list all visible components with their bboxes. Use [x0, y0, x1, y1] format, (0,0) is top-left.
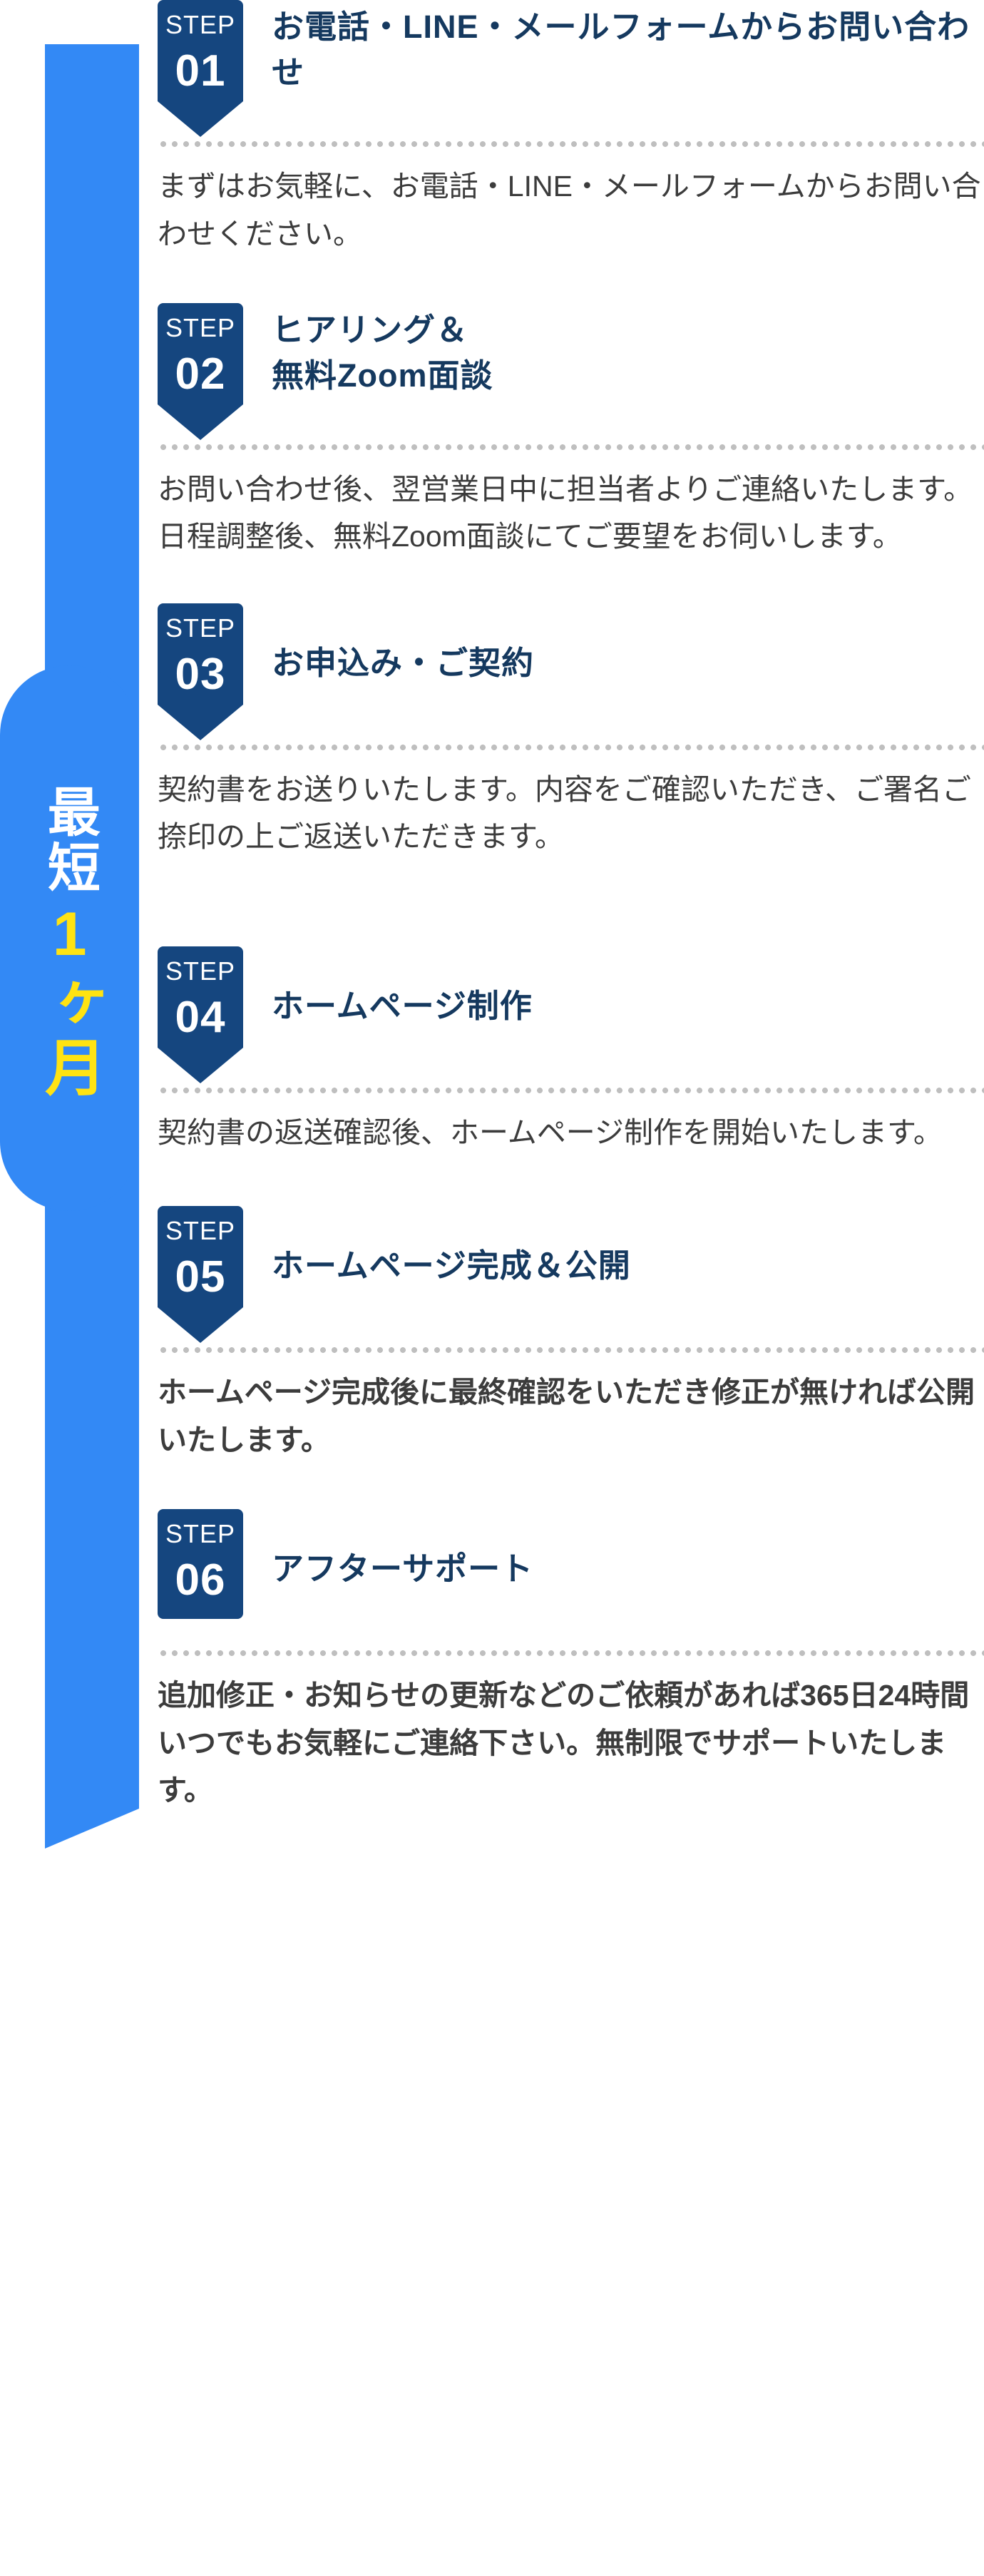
step-description-04: 契約書の返送確認後、ホームページ制作を開始いたします。: [158, 1109, 984, 1156]
step-divider: [158, 1088, 984, 1093]
step-badge-word: STEP: [158, 1521, 243, 1547]
step-description-05: ホームページ完成後に最終確認をいただき修正が無ければ公開いたします。: [158, 1369, 984, 1463]
step-badge-number: 06: [158, 1557, 243, 1603]
step-description-02: お問い合わせ後、翌営業日中に担当者よりご連絡いたします。日程調整後、無料Zoom…: [158, 466, 984, 561]
step-badge-04: STEP 04: [158, 946, 243, 1048]
step-badge-number: 03: [158, 651, 243, 697]
step-badge-number: 04: [158, 994, 243, 1041]
step-title-02: ヒアリング＆ 無料Zoom面談: [272, 303, 493, 399]
step-item-06: STEP 06 アフターサポート 追加修正・お知らせの更新などのご依頼があれば3…: [139, 1463, 984, 1814]
step-divider: [158, 141, 984, 147]
step-badge-05: STEP 05: [158, 1206, 243, 1307]
timeline-arrow-icon: [45, 1809, 139, 1849]
steps-list: STEP 01 お電話・LINE・メールフォームからお問い合わせ まずはお気軽に…: [139, 0, 984, 2576]
step-title-06: アフターサポート: [272, 1509, 533, 1592]
step-badge-02: STEP 02: [158, 303, 243, 404]
step-badge-word: STEP: [158, 12, 243, 38]
step-badge-03: STEP 03: [158, 603, 243, 705]
step-item-05: STEP 05 ホームページ完成＆公開 ホームページ完成後に最終確認をいただき修…: [139, 1156, 984, 1463]
step-divider: [158, 444, 984, 450]
step-divider: [158, 1650, 984, 1656]
step-badge-word: STEP: [158, 315, 243, 341]
step-header: STEP 06 アフターサポート: [139, 1509, 984, 1619]
step-divider: [158, 1347, 984, 1353]
step-badge-word: STEP: [158, 1218, 243, 1244]
duration-badge-label: 最短: [42, 784, 98, 896]
step-item-03: STEP 03 お申込み・ご契約 契約書をお送りいたします。内容をご確認いただき…: [139, 561, 984, 861]
step-header: STEP 01 お電話・LINE・メールフォームからお問い合わせ: [139, 0, 984, 101]
step-title-04: ホームページ制作: [272, 946, 533, 1029]
step-title-03: お申込み・ご契約: [272, 603, 534, 686]
step-title-05: ホームページ完成＆公開: [272, 1206, 631, 1289]
step-header: STEP 05 ホームページ完成＆公開: [139, 1206, 984, 1307]
step-title-01: お電話・LINE・メールフォームからお問い合わせ: [272, 0, 984, 96]
step-badge-number: 01: [158, 48, 243, 94]
step-header: STEP 03 お申込み・ご契約: [139, 603, 984, 705]
step-item-01: STEP 01 お電話・LINE・メールフォームからお問い合わせ まずはお気軽に…: [139, 0, 984, 257]
step-description-03: 契約書をお送りいたします。内容をご確認いただき、ご署名ご捺印の上ご返送いただきま…: [158, 766, 984, 861]
step-header: STEP 02 ヒアリング＆ 無料Zoom面談: [139, 303, 984, 404]
step-description-01: まずはお気軽に、お電話・LINE・メールフォームからお問い合わせください。: [158, 163, 984, 257]
step-badge-number: 05: [158, 1254, 243, 1300]
step-item-02: STEP 02 ヒアリング＆ 無料Zoom面談 お問い合わせ後、翌営業日中に担当…: [139, 257, 984, 561]
step-item-04: STEP 04 ホームページ制作 契約書の返送確認後、ホームページ制作を開始いた…: [139, 861, 984, 1157]
step-badge-number: 02: [158, 351, 243, 397]
step-divider: [158, 745, 984, 750]
duration-badge: 最短 1ヶ月: [0, 665, 139, 1211]
step-badge-word: STEP: [158, 959, 243, 984]
duration-badge-value: 1ヶ月: [37, 900, 101, 1100]
step-badge-06: STEP 06: [158, 1509, 243, 1619]
step-badge-01: STEP 01: [158, 0, 243, 101]
step-header: STEP 04 ホームページ制作: [139, 946, 984, 1048]
step-description-06: 追加修正・お知らせの更新などのご依頼があれば365日24時間いつでもお気軽にご連…: [158, 1672, 984, 1814]
step-badge-word: STEP: [158, 615, 243, 641]
